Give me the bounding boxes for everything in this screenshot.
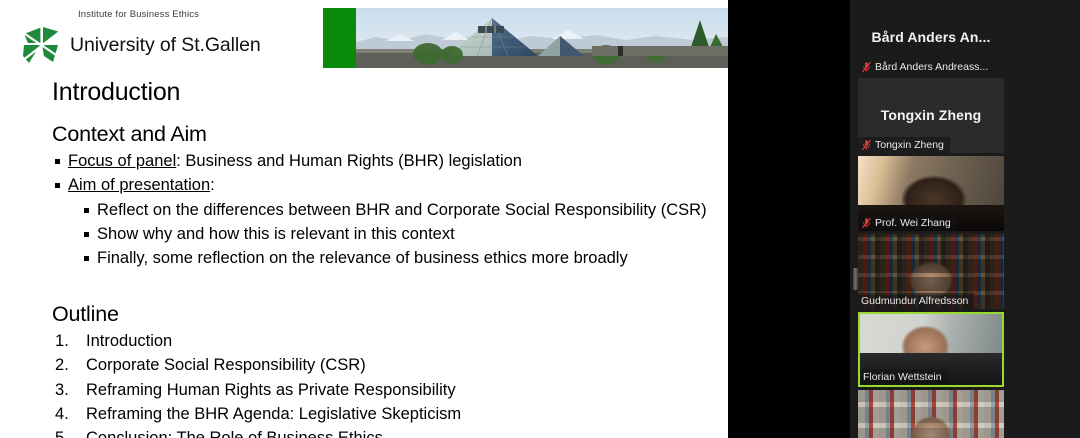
participant-namebar: Tongxin Zheng — [858, 137, 950, 153]
page-title: Introduction — [52, 78, 180, 107]
list-item: Focus of panel: Business and Human Right… — [52, 150, 707, 173]
participant-rail: Bård Anders An... Bård Anders Andreass..… — [850, 0, 1080, 438]
list-item: Show why and how this is relevant in thi… — [82, 223, 707, 246]
participant-display-name: Tongxin Zheng — [858, 107, 1004, 123]
campus-library-photo — [356, 8, 728, 68]
institute-name: Institute for Business Ethics — [78, 9, 199, 20]
bullet-lead: Aim of presentation — [68, 176, 210, 194]
participant-tile-stephane-brabant[interactable]: Stéphane Brabant — [858, 390, 1004, 438]
participant-namebar: Florian Wettstein — [860, 369, 948, 385]
slide-header-band: Institute for Business Ethics — [0, 0, 728, 72]
participant-tile-florian-wettstein[interactable]: Florian Wettstein — [858, 312, 1004, 387]
participant-display-name: Bård Anders An... — [858, 29, 1004, 45]
participant-tile-tongxin-zheng[interactable]: Tongxin Zheng Tongxin Zheng — [858, 78, 1004, 153]
list-item: Reframing the BHR Agenda: Legislative Sk… — [52, 402, 461, 426]
participant-tile-gudmundur-alfredsson[interactable]: Gudmundur Alfredsson — [858, 234, 1004, 309]
bullet-lead: Focus of panel — [68, 152, 176, 170]
context-bullet-list: Focus of panel: Business and Human Right… — [52, 150, 707, 198]
mic-muted-icon — [861, 61, 872, 73]
context-subbullet-list: Reflect on the differences between BHR a… — [82, 199, 707, 270]
outline-list: Introduction Corporate Social Responsibi… — [52, 329, 461, 438]
section-outline: Outline Introduction Corporate Social Re… — [52, 302, 461, 438]
section-heading-outline: Outline — [52, 302, 461, 327]
list-item: Conclusion: The Role of Business Ethics — [52, 426, 461, 438]
university-name: University of St.Gallen — [70, 34, 261, 57]
banner-green-block — [323, 8, 356, 68]
list-item: Finally, some reflection on the relevanc… — [82, 247, 707, 270]
participant-namebar: Prof. Wei Zhang — [858, 215, 957, 231]
shared-screen-area[interactable]: Institute for Business Ethics — [0, 0, 850, 438]
st-gallen-logo-icon — [20, 23, 64, 67]
participant-tile-bard-anders[interactable]: Bård Anders An... Bård Anders Andreass..… — [858, 0, 1004, 75]
participant-name-label: Prof. Wei Zhang — [875, 217, 951, 229]
bullet-rest: : Business and Human Rights (BHR) legisl… — [176, 152, 522, 170]
participant-name-label: Gudmundur Alfredsson — [861, 295, 968, 307]
participant-namebar: Bård Anders Andreass... — [858, 59, 994, 75]
list-item: Corporate Social Responsibility (CSR) — [52, 353, 461, 377]
participant-tile-list: Bård Anders An... Bård Anders Andreass..… — [858, 0, 1004, 438]
section-context-and-aim: Context and Aim Focus of panel: Business… — [52, 122, 707, 271]
participant-tile-wei-zhang[interactable]: Prof. Wei Zhang — [858, 156, 1004, 231]
bullet-rest: : — [210, 176, 215, 194]
list-item: Aim of presentation: — [52, 174, 707, 197]
participant-namebar: Gudmundur Alfredsson — [858, 293, 974, 309]
list-item: Reframing Human Rights as Private Respon… — [52, 378, 461, 402]
video-conference-window: Institute for Business Ethics — [0, 0, 1080, 438]
participant-name-label: Florian Wettstein — [863, 371, 942, 383]
mic-muted-icon — [861, 139, 872, 151]
participant-name-label: Bård Anders Andreass... — [875, 61, 988, 73]
participant-name-label: Tongxin Zheng — [875, 139, 944, 151]
list-item: Introduction — [52, 329, 461, 353]
presentation-slide: Institute for Business Ethics — [0, 0, 728, 438]
mic-muted-icon — [861, 217, 872, 229]
section-heading-context: Context and Aim — [52, 122, 707, 147]
list-item: Reflect on the differences between BHR a… — [82, 199, 707, 222]
participant-video-feed — [858, 390, 1004, 438]
